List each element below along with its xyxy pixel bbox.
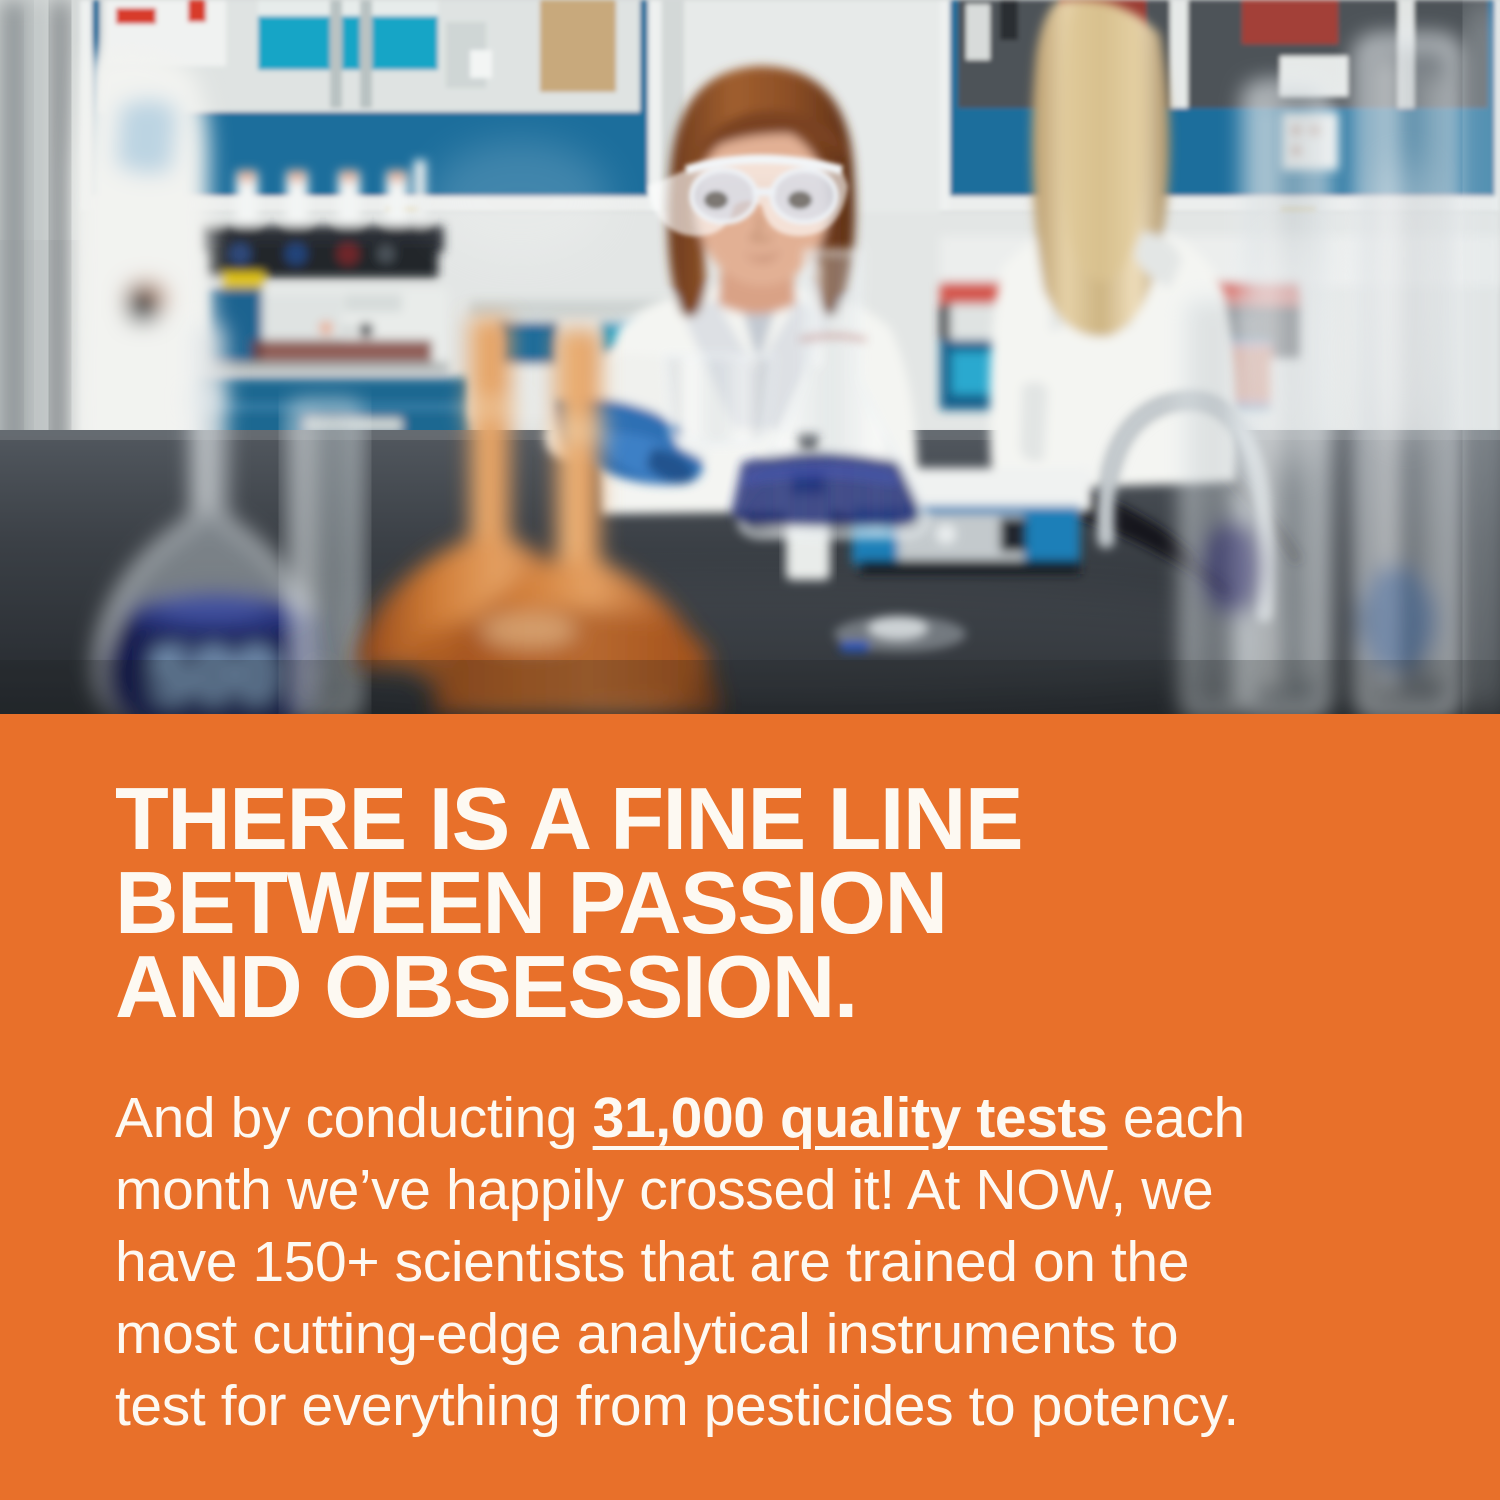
body-line-5: test for everything from pesticides to p…	[115, 1370, 1380, 1442]
promotional-poster: 500	[0, 0, 1500, 1500]
body-copy: And by conducting 31,000 quality tests e…	[115, 1082, 1380, 1442]
lab-scene-illustration: 500	[0, 0, 1500, 714]
body-line-1-prefix: And by conducting	[115, 1086, 593, 1150]
body-line-3: have 150+ scientists that are trained on…	[115, 1226, 1380, 1298]
body-line-1: And by conducting 31,000 quality tests e…	[115, 1082, 1380, 1154]
laboratory-photograph: 500	[0, 0, 1500, 714]
headline-line-1: THERE IS A FINE LINE	[115, 777, 1415, 861]
orange-message-panel: THERE IS A FINE LINE BETWEEN PASSION AND…	[0, 714, 1500, 1500]
body-line-4: most cutting-edge analytical instruments…	[115, 1298, 1380, 1370]
headline-line-2: BETWEEN PASSION	[115, 861, 1415, 945]
body-line-1-suffix: each	[1107, 1086, 1244, 1150]
body-line-2: month we’ve happily crossed it! At NOW, …	[115, 1154, 1380, 1226]
headline-line-3: AND OBSESSION.	[115, 945, 1415, 1029]
beaker-small	[666, 356, 772, 445]
quality-tests-stat: 31,000 quality tests	[593, 1086, 1108, 1150]
headline: THERE IS A FINE LINE BETWEEN PASSION AND…	[115, 777, 1415, 1029]
